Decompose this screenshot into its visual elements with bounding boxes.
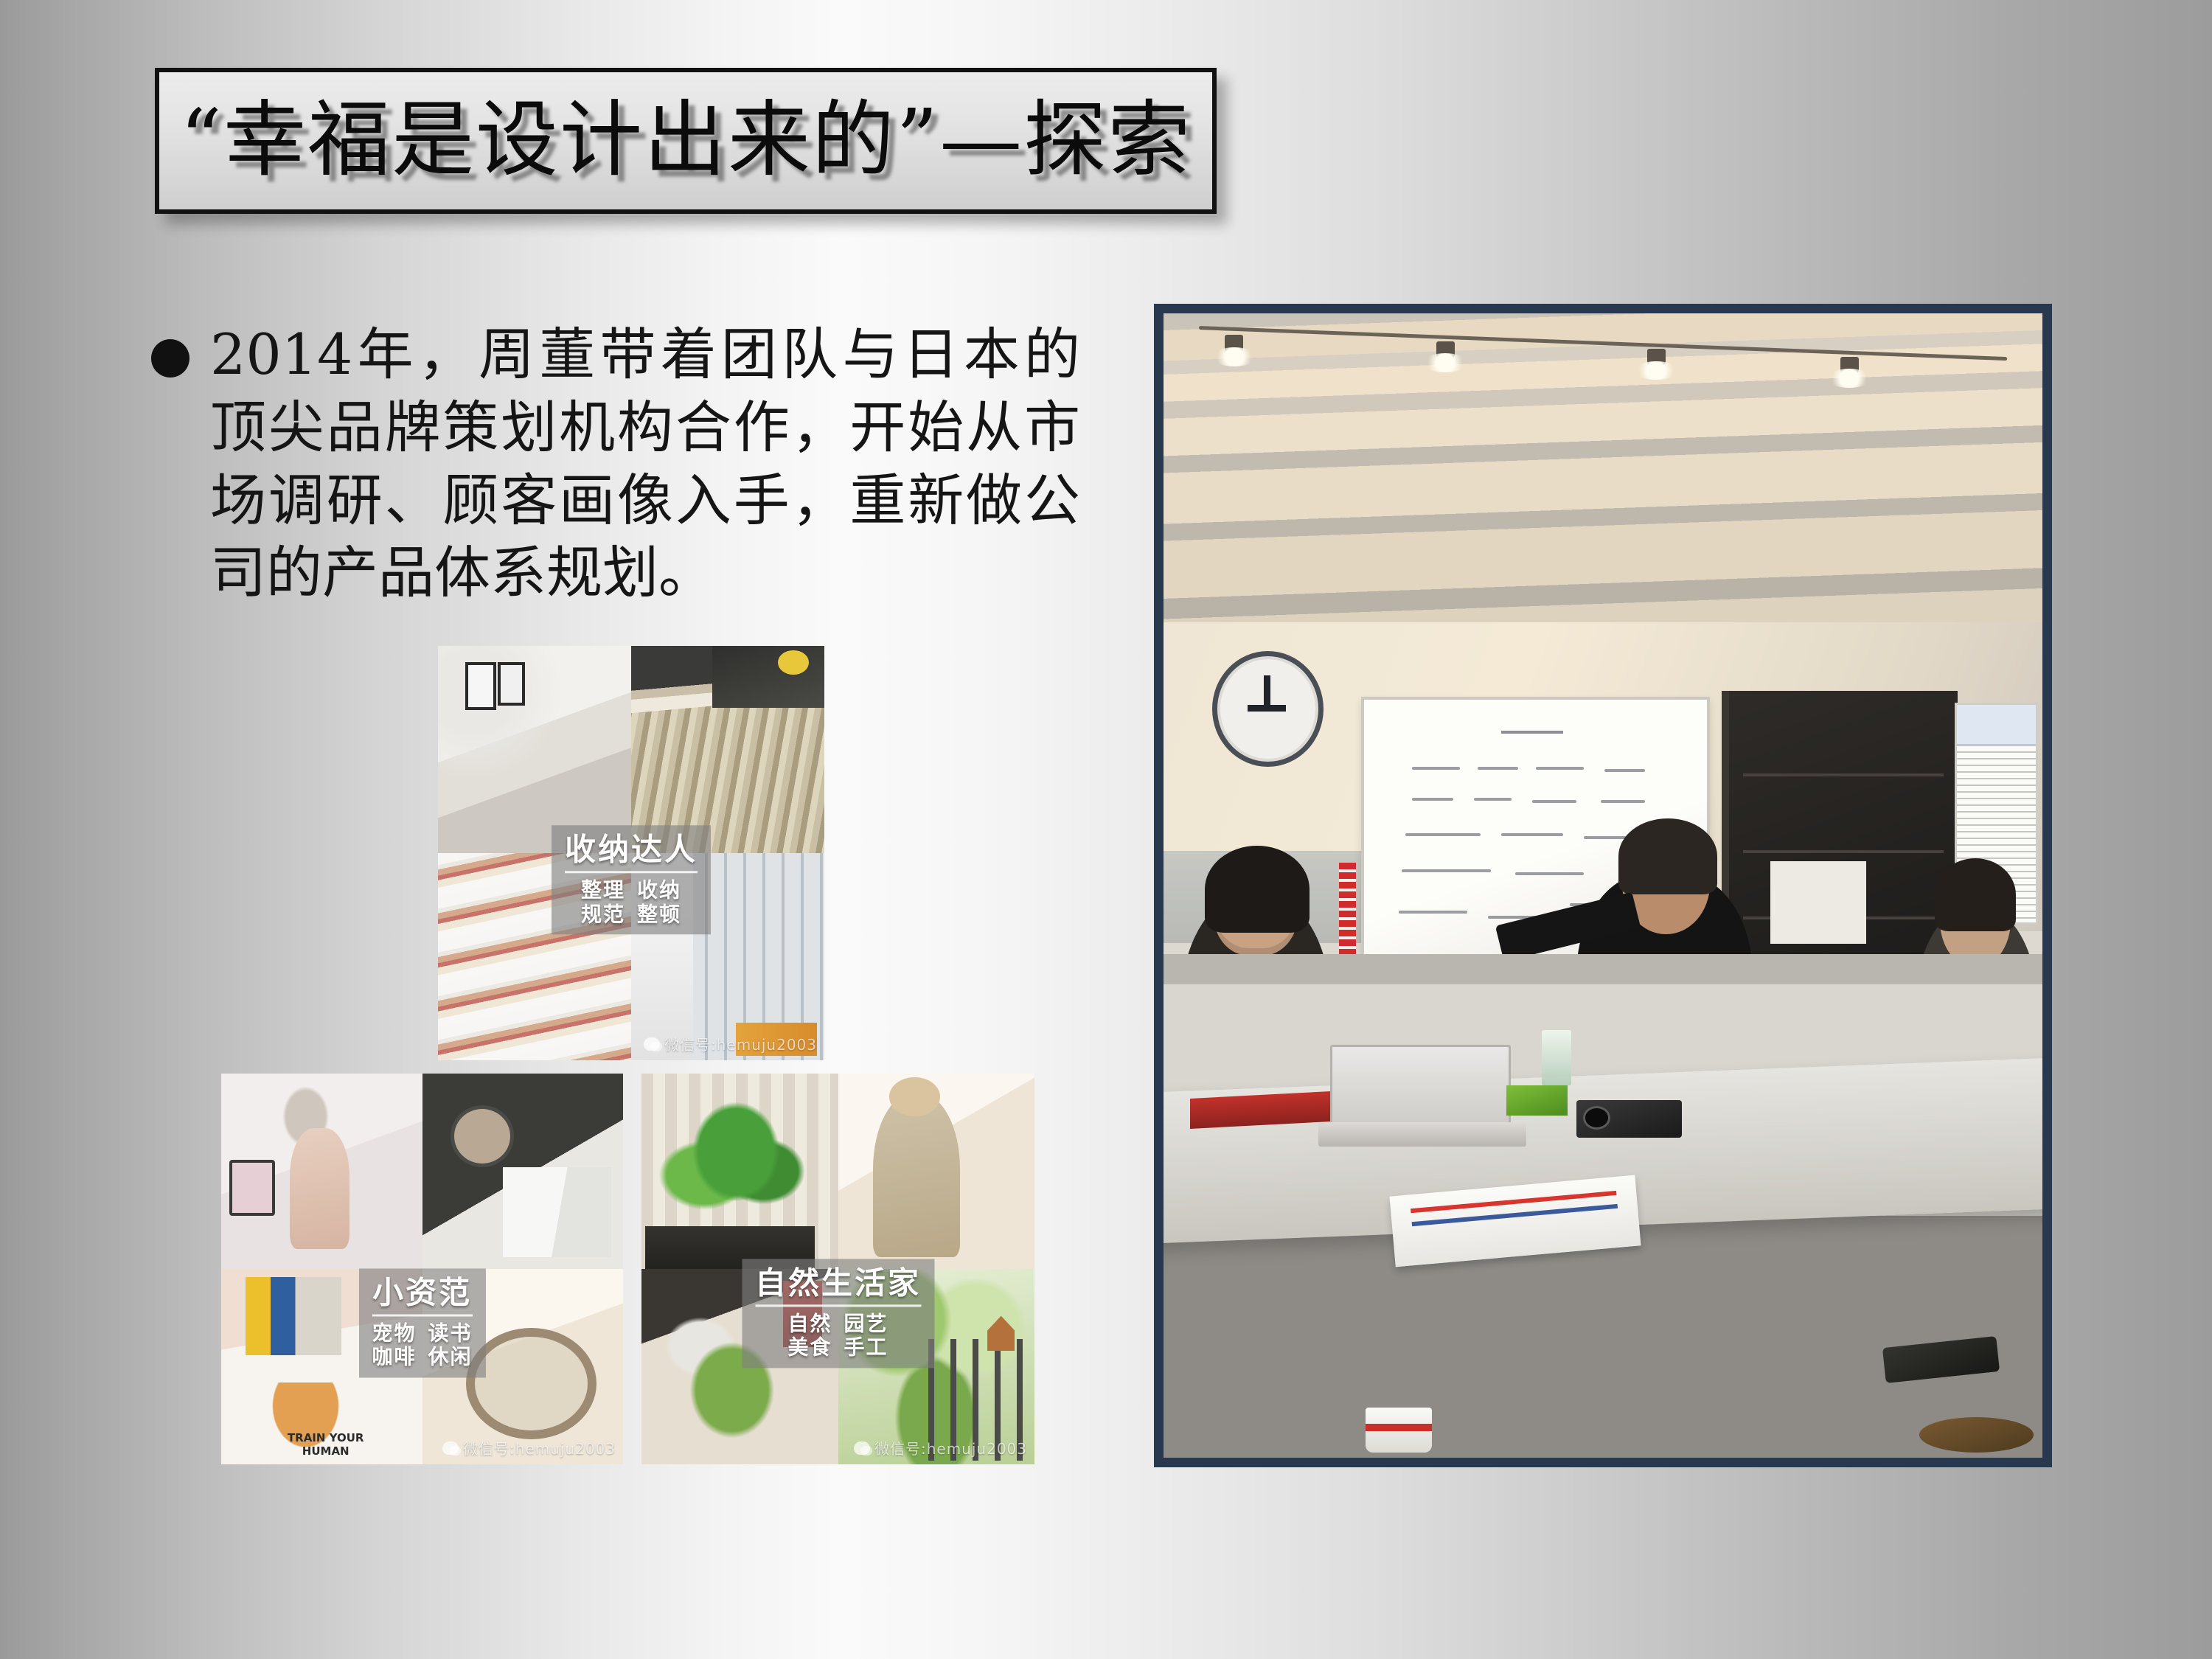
caption-title: 小资范 <box>372 1276 472 1316</box>
caption-tag: 读书 <box>428 1321 473 1344</box>
track-lighting-rail <box>1199 326 2007 361</box>
caption-tag: 整理 <box>581 879 625 902</box>
collage-caption-storage: 收纳达人 整理 收纳 规范 整顿 <box>552 825 711 934</box>
caption-tag: 咖啡 <box>372 1346 416 1368</box>
wooden-tray <box>1919 1417 2034 1453</box>
laptop <box>1330 1045 1510 1124</box>
wechat-icon <box>854 1441 870 1455</box>
caption-tag: 美食 <box>787 1336 832 1359</box>
tile-cat-on-bed-with-tablet <box>221 1074 422 1269</box>
caption-tag: 收纳 <box>637 879 681 902</box>
water-bottle <box>1542 1030 1572 1085</box>
ceiling <box>1164 313 2042 622</box>
slide-title-box: “幸福是设计出来的”—探索 <box>155 68 1217 214</box>
camcorder <box>1576 1100 1682 1138</box>
collage-storage: 收纳达人 整理 收纳 规范 整顿 微信号:hemuju2003 <box>438 646 824 1060</box>
bullet-dot-icon <box>151 339 189 378</box>
tile-coffee-and-open-book <box>422 1074 624 1269</box>
spot-light <box>1225 335 1243 355</box>
caption-tag: 规范 <box>581 902 625 925</box>
caption-tag: 园艺 <box>844 1312 888 1335</box>
watermark-nature: 微信号:hemuju2003 <box>854 1437 1027 1458</box>
slide-canvas: “幸福是设计出来的”—探索 2014年，周董带着团队与日本的顶尖品牌策划机构合作… <box>0 0 2212 1659</box>
tile-balcony-herb-planter <box>641 1074 838 1269</box>
wechat-icon <box>644 1037 660 1051</box>
collage-nature-living: 自然生活家 自然 园艺 美食 手工 微信号:hemuju2003 <box>641 1074 1034 1464</box>
watermark-text: 微信号:hemuju2003 <box>874 1437 1027 1458</box>
caption-tag: 整顿 <box>637 902 681 925</box>
spot-light <box>1840 357 1859 377</box>
watermark-storage: 微信号:hemuju2003 <box>644 1033 817 1054</box>
tile-bedroom-storage-bed <box>438 646 631 853</box>
body-paragraph: 2014年，周董带着团队与日本的顶尖品牌策划机构合作，开始从市场调研、顾客画像入… <box>210 319 1080 610</box>
caption-title: 自然生活家 <box>755 1266 921 1307</box>
collage-caption-nature: 自然生活家 自然 园艺 美食 手工 <box>742 1259 934 1368</box>
page-title: “幸福是设计出来的”—探索 <box>180 97 1192 184</box>
tile-woman-trimming-herbs <box>838 1074 1035 1269</box>
spot-light <box>1436 341 1455 361</box>
watermark-text: 微信号:hemuju2003 <box>463 1437 616 1458</box>
caption-tag: 手工 <box>844 1336 888 1359</box>
caption-tag: 宠物 <box>372 1321 416 1344</box>
watermark-petit: 微信号:hemuju2003 <box>442 1437 616 1458</box>
bookcase <box>1722 691 1958 965</box>
shelf-paper <box>1770 861 1866 944</box>
collage-petit-bourgeois: TRAIN YOUR HUMAN 小资范 宠物 读书 咖啡 休闲 微信号:hem… <box>221 1074 623 1464</box>
meeting-room-photo <box>1154 304 2052 1467</box>
caption-title: 收纳达人 <box>565 832 698 873</box>
caption-tag: 休闲 <box>428 1346 473 1368</box>
book-cover-text: TRAIN YOUR HUMAN <box>282 1431 370 1459</box>
conference-table-area <box>1164 954 2042 1458</box>
watermark-text: 微信号:hemuju2003 <box>664 1033 817 1054</box>
body-bullet-block: 2014年，周董带着团队与日本的顶尖品牌策划机构合作，开始从市场调研、顾客画像入… <box>151 319 1102 610</box>
smartphone <box>1882 1336 2000 1383</box>
paper-cup <box>1366 1408 1431 1453</box>
collage-caption-petit: 小资范 宠物 读书 咖啡 休闲 <box>358 1268 485 1377</box>
wechat-icon <box>442 1441 459 1455</box>
spot-light <box>1647 349 1666 369</box>
wall-clock-icon <box>1212 651 1324 767</box>
caption-tag: 自然 <box>787 1312 832 1335</box>
green-box <box>1506 1085 1568 1116</box>
tile-kitchen-spice-drawer <box>631 646 824 853</box>
